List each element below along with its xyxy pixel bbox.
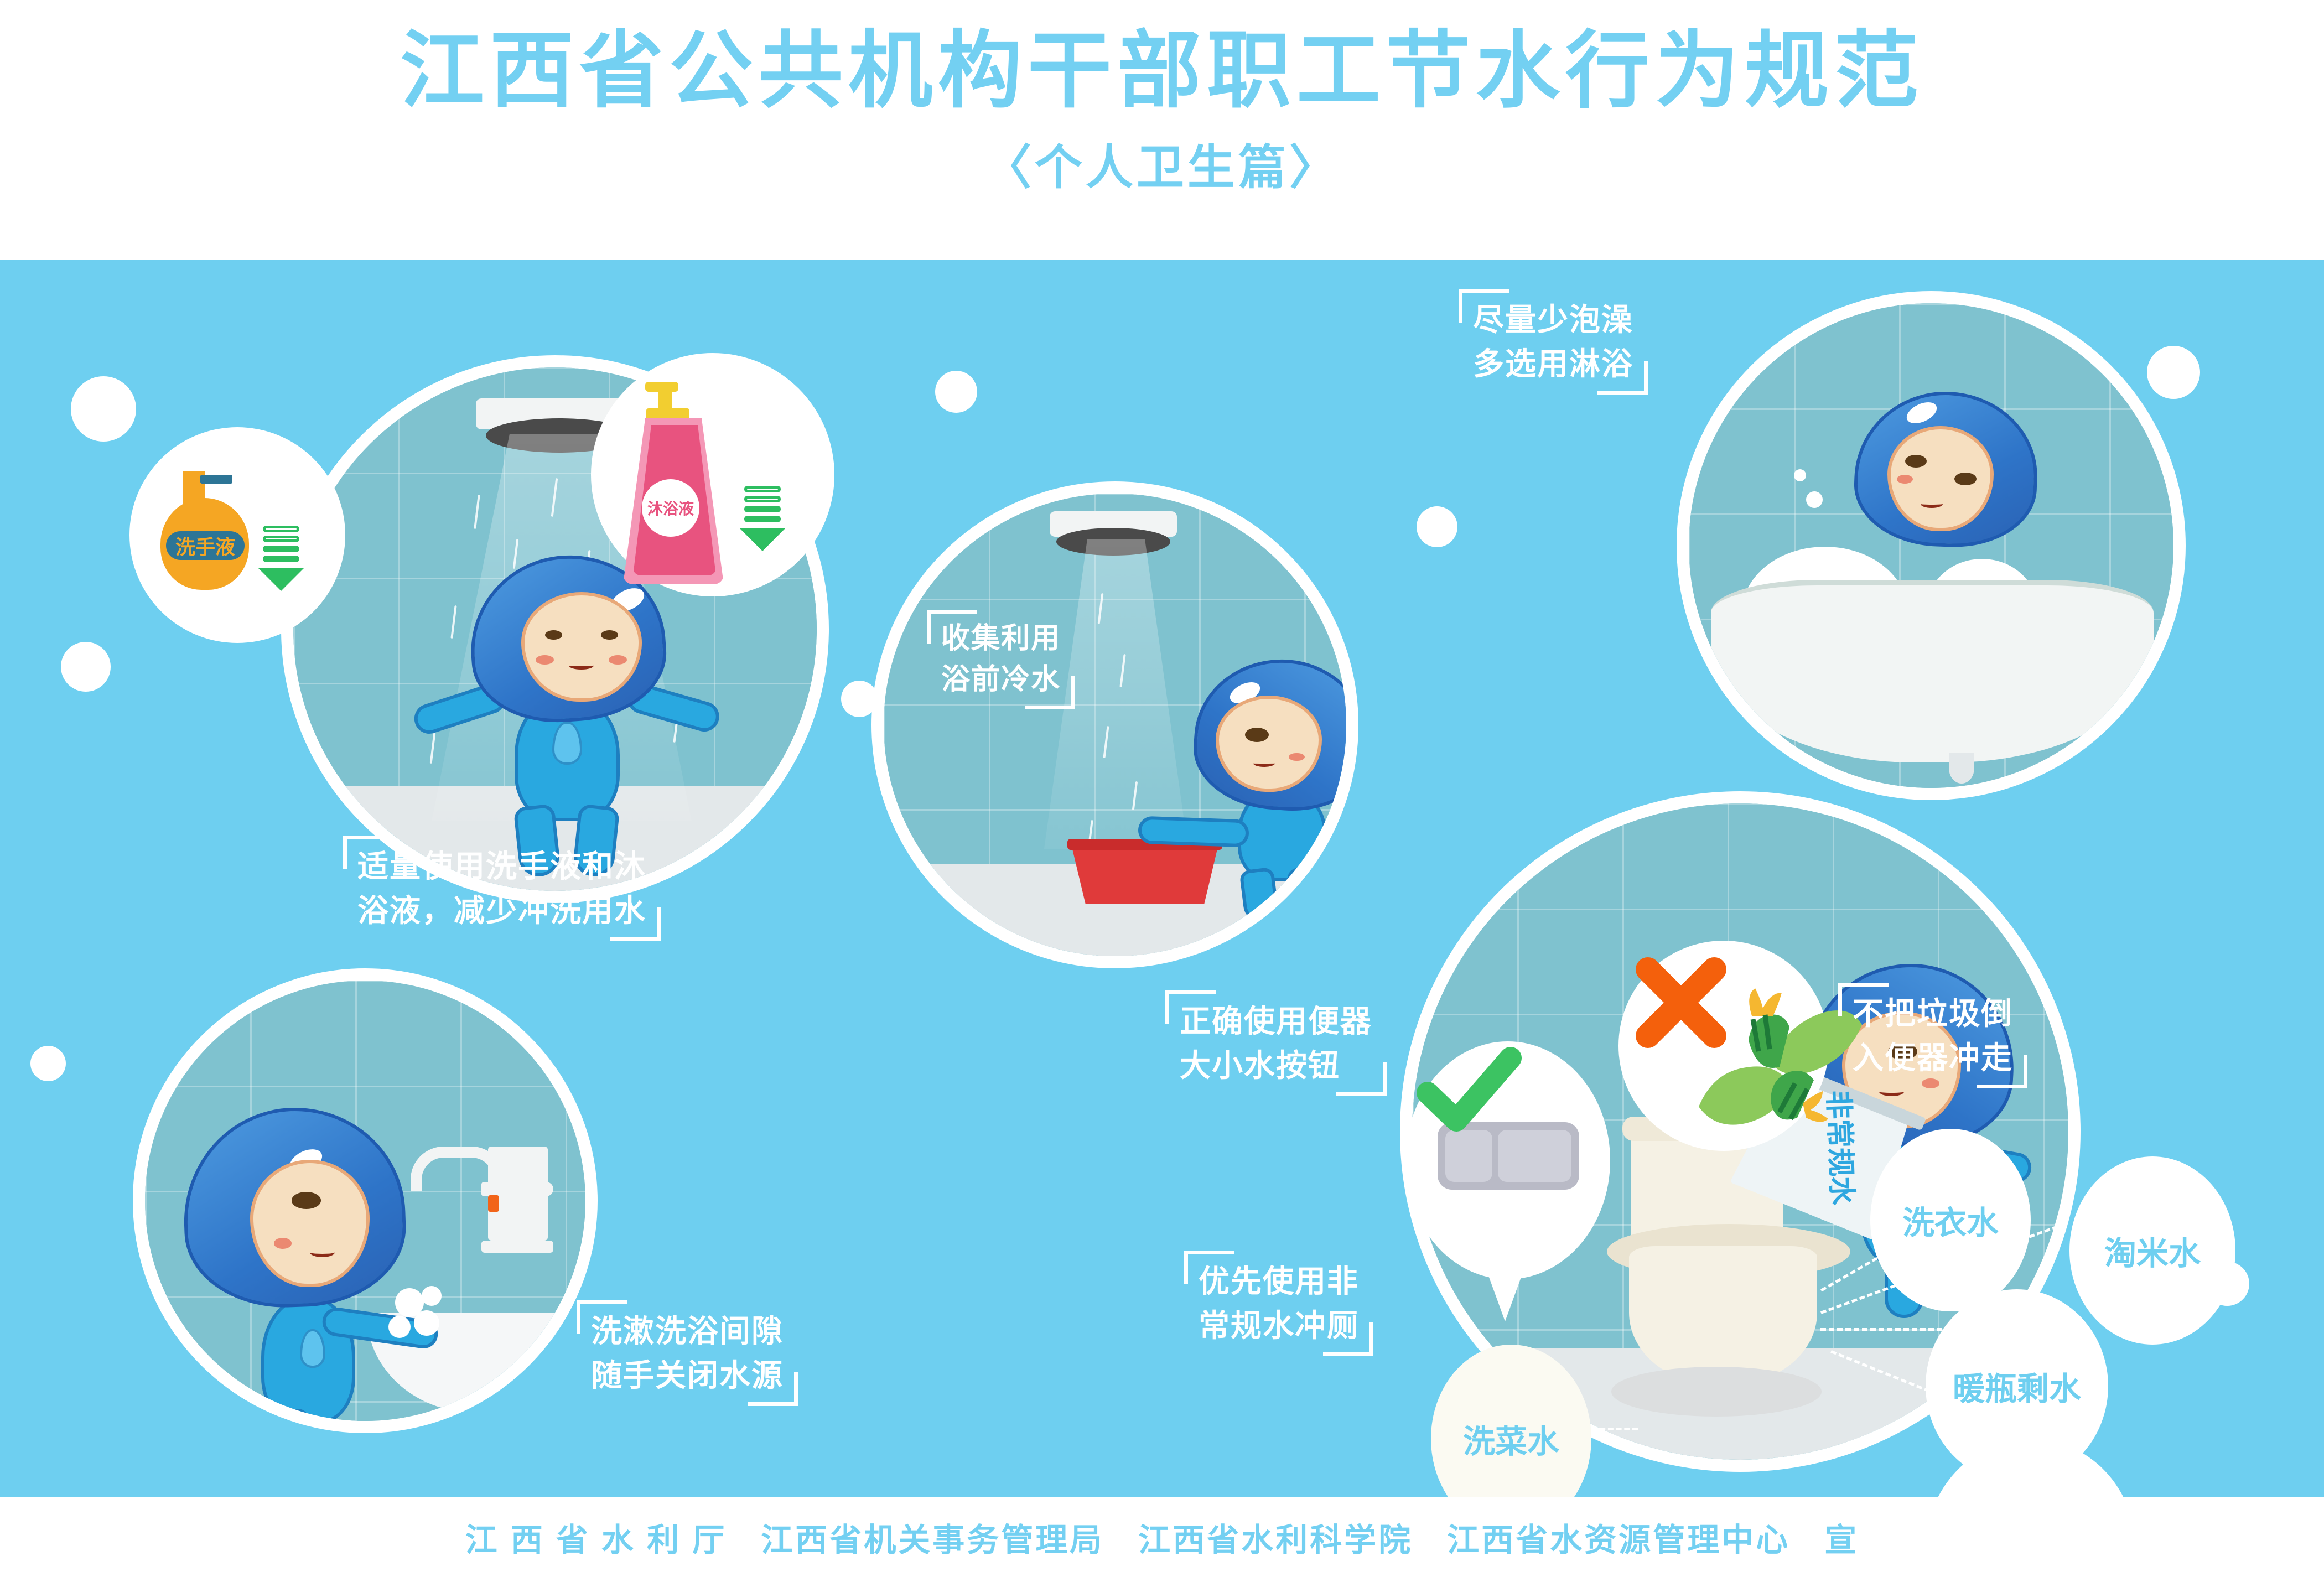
gauge-bar-filled: [744, 506, 781, 512]
poster-footer: 江 西 省 水 利 厅 江西省机关事务管理局 江西省水利科学院 江西省水资源管理…: [0, 1497, 2324, 1577]
hand-foam: [414, 1310, 439, 1336]
caption-flush-button: 正确使用便器 大小水按钮: [1165, 990, 1387, 1096]
mascot-character: [444, 556, 693, 876]
mascot-face: [250, 1160, 370, 1287]
decorative-bubble: [1417, 506, 1457, 547]
check-mark-icon: [1417, 1046, 1522, 1140]
gauge-bar-filled: [263, 546, 299, 552]
mascot-head: [184, 1108, 405, 1307]
handwash-gauge: [258, 526, 304, 591]
mascot-cheek-left: [536, 655, 554, 665]
handwash-bubble: 洗手液: [129, 427, 345, 643]
water-source-bubble-1: 淘米水: [2069, 1156, 2235, 1345]
mascot-character: [1171, 660, 1358, 920]
mascot-eye-left: [545, 630, 562, 640]
handwash-label: 洗手液: [166, 531, 245, 560]
mascot-arm-front: [1138, 816, 1249, 848]
gauge-down-arrow-icon: [258, 568, 304, 591]
caption-line: 浴前冷水: [941, 660, 1061, 701]
mascot-cheek: [1897, 475, 1913, 484]
mascot-face: [521, 592, 642, 702]
mascot-mouth: [1921, 500, 1942, 508]
scene-wash-tap: [133, 968, 598, 1433]
decorative-bubble: [71, 376, 136, 442]
faucet-mount: [481, 1241, 553, 1253]
caption-line: 常规水冲厕: [1199, 1304, 1359, 1348]
soap-bubble: [1794, 469, 1806, 481]
gauge-bar-empty: [263, 526, 299, 532]
mascot-mouth: [569, 661, 594, 670]
caption-shower-soap: 适量使用洗手液和沐 浴液，减少冲洗用水: [343, 836, 661, 941]
scene-bathtub: [1677, 291, 2186, 800]
caption-line: 随手关闭水源: [591, 1353, 784, 1398]
caption-no-trash: 不把垃圾倒 入便器冲走: [1838, 983, 2027, 1088]
mascot-eye-right: [601, 630, 618, 640]
mascot-cheek: [1289, 753, 1305, 761]
toilet-base-shadow: [1611, 1367, 1822, 1417]
caption-line: 多选用淋浴: [1473, 342, 1633, 386]
hand-foam: [388, 1316, 411, 1338]
scene-collect-cold-water: 收集利用 浴前冷水: [871, 481, 1358, 968]
mascot-leg-left: [1239, 867, 1279, 924]
faucet-handle: [481, 1182, 553, 1196]
mascot-leg: [272, 1409, 309, 1433]
caption-line: 大小水按钮: [1180, 1044, 1372, 1088]
soap-bubble: [1806, 491, 1823, 508]
mascot-character: [173, 1064, 460, 1433]
page-title: 江西省公共机构干部职工节水行为规范: [400, 25, 1924, 116]
caption-line: 适量使用洗手液和沐: [357, 844, 646, 889]
caption-line: 正确使用便器: [1180, 999, 1372, 1044]
caption-nonconventional: 优先使用非 常规水冲厕: [1184, 1251, 1373, 1356]
caption-line: 浴液，减少冲洗用水: [357, 889, 646, 933]
mascot-eye: [1245, 728, 1269, 742]
mascot-head: [1855, 392, 2037, 547]
hand-foam: [422, 1286, 442, 1306]
footer-organizations: 江 西 省 水 利 厅 江西省机关事务管理局 江西省水利科学院 江西省水资源管理…: [465, 1514, 1859, 1560]
callout-tail: [1483, 1260, 1527, 1321]
caption-line: 入便器冲走: [1853, 1036, 2013, 1080]
mascot-head: [1195, 660, 1358, 810]
page-subtitle: 〈个人卫生篇〉: [984, 128, 1340, 198]
mascot-cheek-right: [609, 655, 627, 665]
caption-line: 尽量少泡澡: [1473, 298, 1633, 342]
handwash-spout: [200, 475, 232, 484]
caption-wash-tap: 洗漱洗浴间隙 随手关闭水源: [577, 1300, 798, 1406]
faucet-indicator-icon: [488, 1195, 499, 1212]
mascot-eye-right: [1954, 473, 1976, 485]
caption-line: 优先使用非: [1199, 1259, 1359, 1304]
caption-line: 洗漱洗浴间隙: [591, 1309, 784, 1353]
showergel-gauge: [739, 486, 786, 551]
bathtub-leg: [1949, 753, 1974, 784]
mascot-cheek: [274, 1238, 292, 1249]
mascot-eye-left: [1905, 455, 1927, 468]
water-source-bubble-0: 洗衣水: [1870, 1129, 2031, 1311]
caption-line: 不把垃圾倒: [1853, 992, 2013, 1036]
gauge-bar-filled: [263, 556, 299, 562]
gauge-bar-empty: [263, 536, 299, 542]
mascot-character: [1855, 392, 2043, 558]
mascot-face: [1887, 426, 1993, 531]
decorative-bubble: [61, 642, 111, 692]
infographic-poster: 江西省公共机构干部职工节水行为规范 〈个人卫生篇〉: [0, 0, 2324, 1577]
mascot-mouth: [1253, 760, 1275, 767]
gauge-bar-empty: [744, 496, 781, 502]
poster-header: 江西省公共机构干部职工节水行为规范 〈个人卫生篇〉: [0, 0, 2324, 260]
showergel-label: 沐浴液: [642, 479, 699, 537]
main-panel: 洗手液 沐浴液: [0, 260, 2324, 1497]
mascot-mouth: [310, 1247, 335, 1257]
showergel-bubble: 沐浴液: [591, 353, 834, 596]
decorative-bubble: [30, 1046, 66, 1081]
mascot-mouth: [1879, 1087, 1904, 1096]
gauge-bar-empty: [744, 486, 781, 492]
gauge-bar-filled: [744, 516, 781, 522]
gauge-down-arrow-icon: [739, 528, 786, 551]
mascot-leg-right: [1282, 867, 1324, 924]
caption-less-bath: 尽量少泡澡 多选用淋浴: [1459, 289, 1648, 395]
mascot-eye: [292, 1192, 321, 1209]
caption-line: 收集利用: [941, 619, 1061, 660]
decorative-bubble: [935, 371, 977, 413]
caption-collect-cold: 收集利用 浴前冷水: [927, 610, 1075, 709]
